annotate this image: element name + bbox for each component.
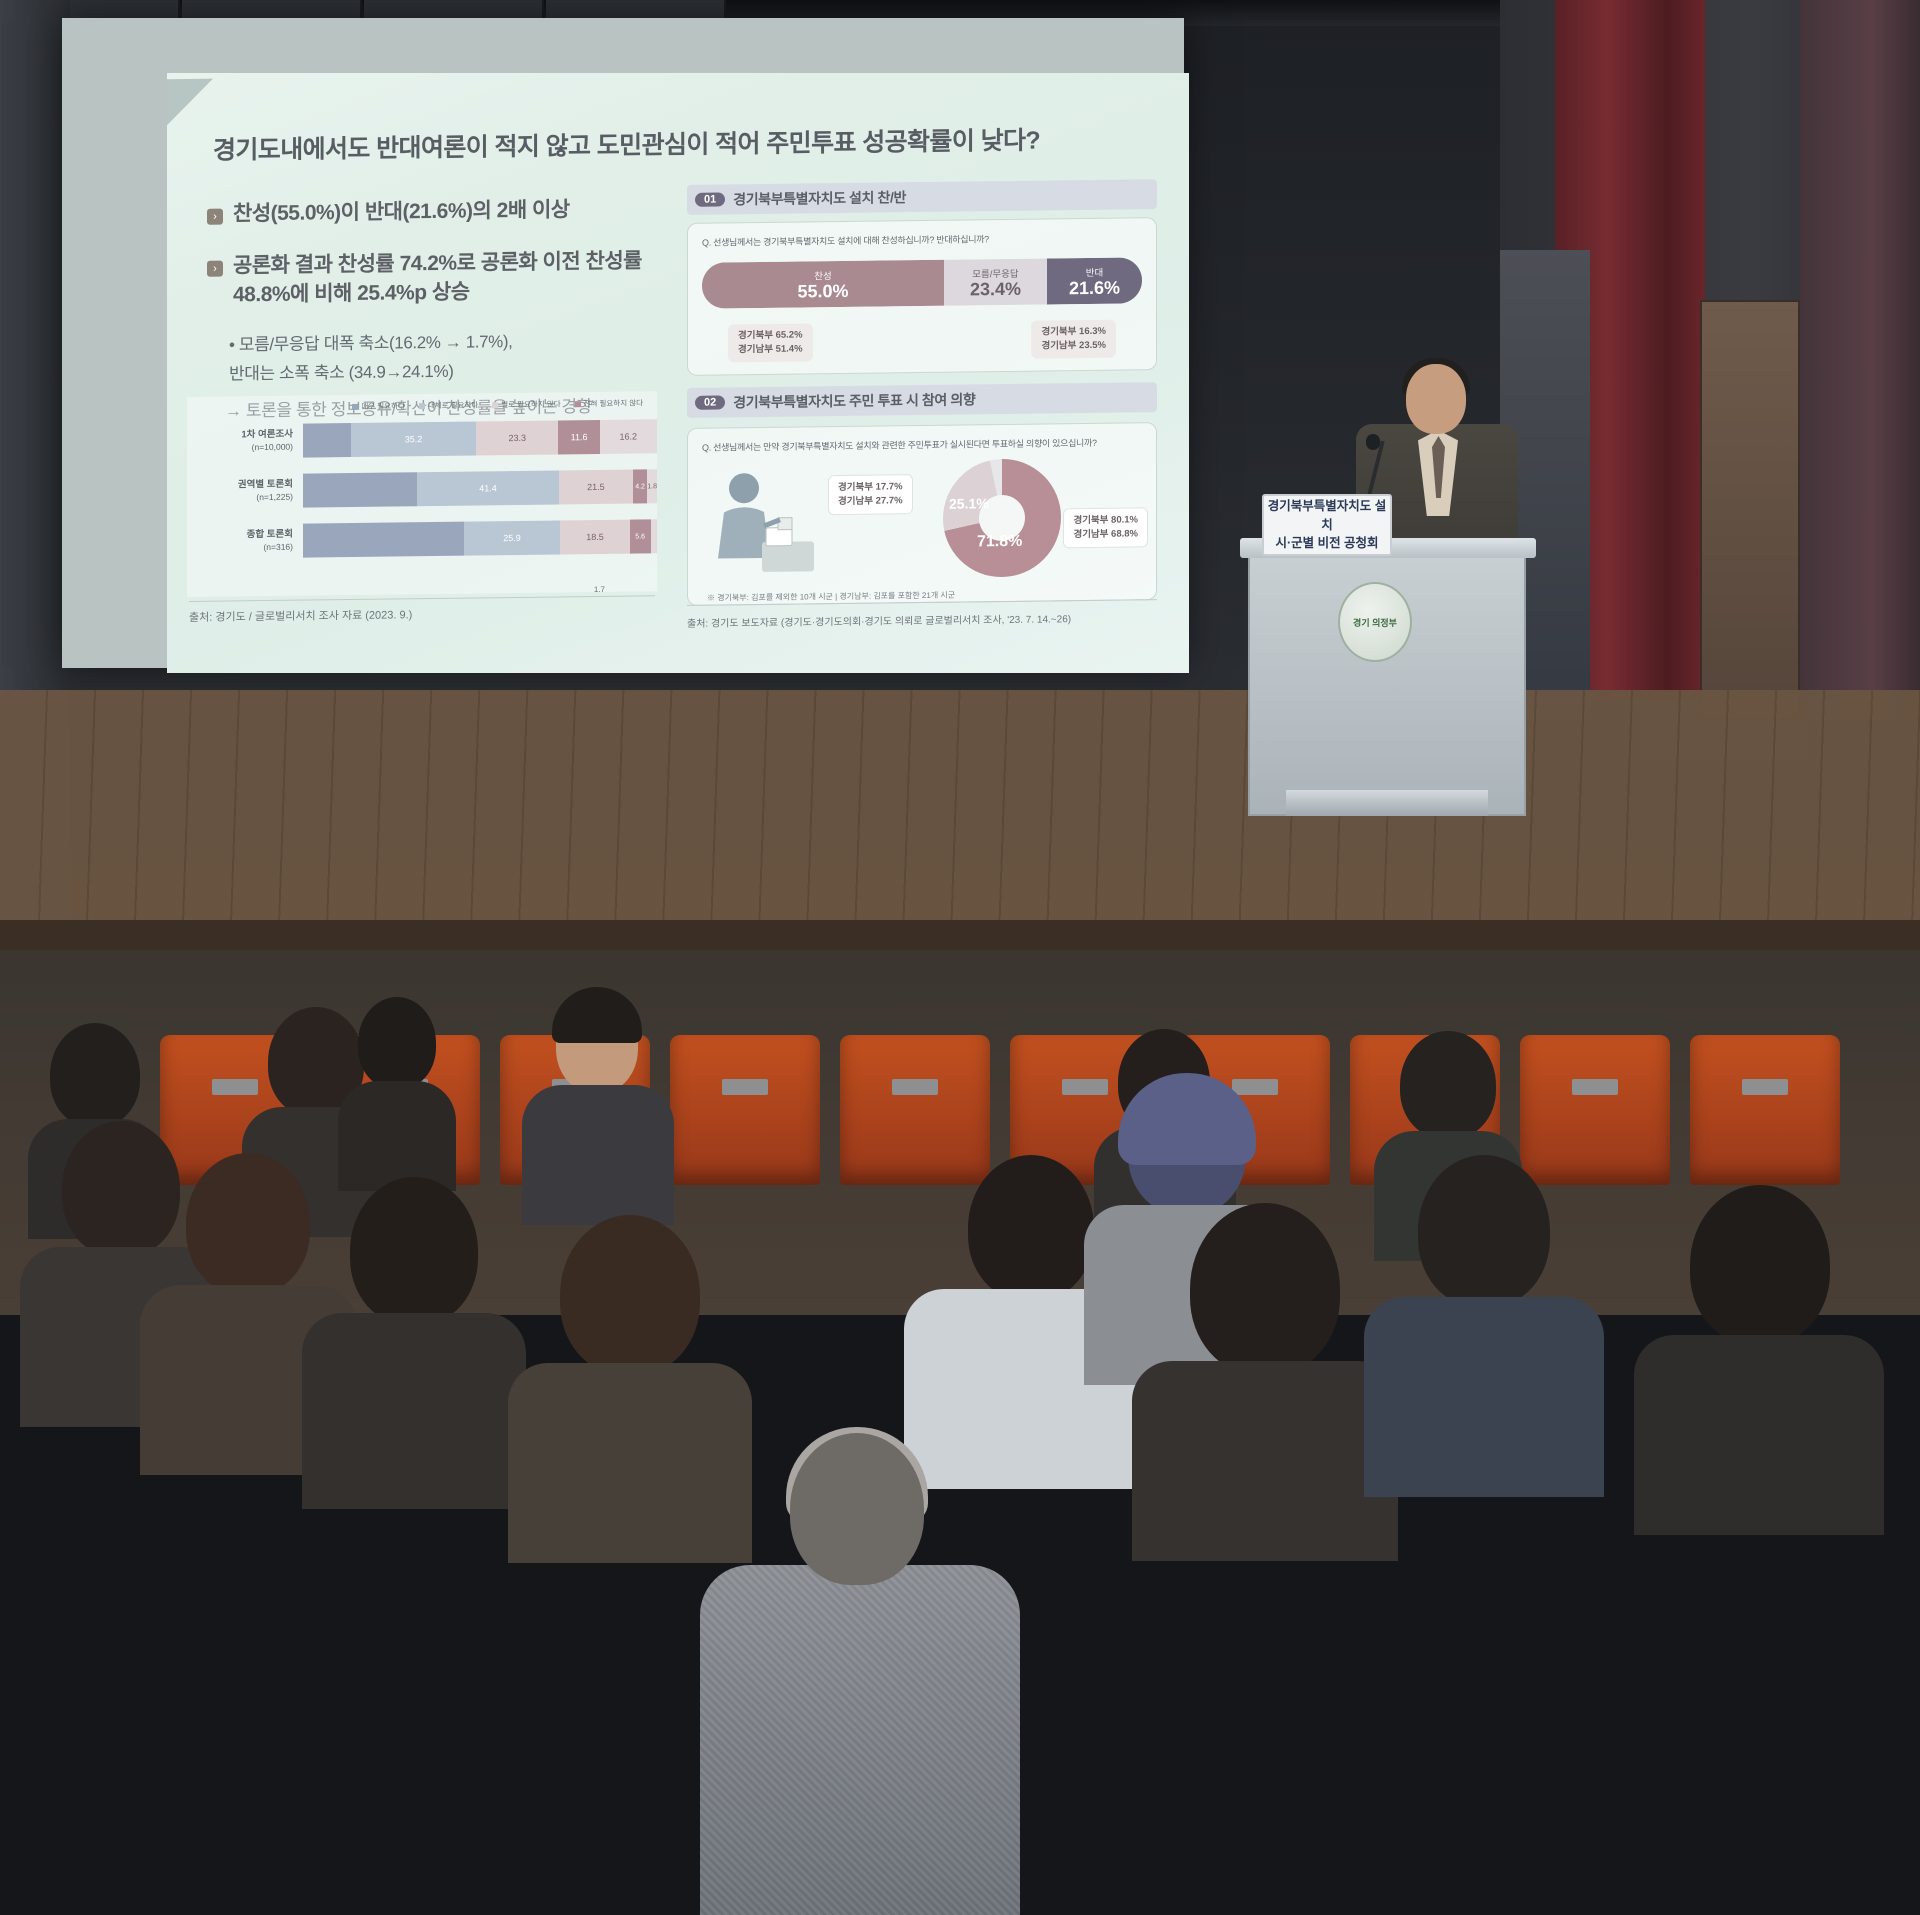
audience-area [0, 885, 1920, 1315]
chart-segment-extra: 1.8 [647, 469, 657, 503]
audience-member [62, 1121, 180, 1257]
audience-member-suited [556, 995, 638, 1093]
audience-head [560, 1215, 700, 1375]
callout-will-participate: 경기북부 80.1% 경기남부 68.8% [1063, 507, 1148, 549]
audience-head [1690, 1185, 1830, 1345]
donut-value-no: 25.1% [949, 495, 989, 511]
standing-member-head [790, 1433, 924, 1585]
standing-member-body [700, 1565, 1020, 1915]
vote-value: 21.6% [1069, 278, 1120, 298]
sub-bullet-text: • 모름/무응답 대폭 축소(16.2% → 1.7%), [229, 328, 677, 358]
section-panel-01: Q. 선생님께서는 경기북부특별자치도 설치에 대해 찬성하십니까? 반대하십니… [687, 217, 1157, 375]
vote-label: 반대 [1086, 264, 1103, 278]
chart-segment: 25.9 [464, 520, 561, 555]
bullet-item: › 공론화 결과 찬성률 74.2%로 공론화 이전 찬성률 48.8%에 비해… [207, 247, 677, 309]
audience-shoulders [338, 1081, 456, 1191]
beanie-hat-icon [1118, 1073, 1256, 1165]
legend-entry: 전혀 필요하지 않다 [575, 397, 643, 409]
slide-left-column: › 찬성(55.0%)이 반대(21.6%)의 2배 이상 › 공론화 결과 찬… [207, 195, 677, 422]
vote-segment-oppose: 반대 21.6% [1047, 257, 1142, 304]
vote-value: 55.0% [797, 281, 848, 301]
section-title: 경기북부특별자치도 주민 투표 시 참여 의향 [733, 389, 975, 412]
chart-segment: 23.3 [476, 420, 559, 455]
audience-member [1690, 1185, 1830, 1345]
seat-plate [1572, 1079, 1618, 1095]
chart-segment: 41.4 [417, 470, 559, 506]
audience-shoulders [302, 1313, 526, 1509]
section-header-02: 02 경기북부특별자치도 주민 투표 시 참여 의향 [687, 382, 1157, 418]
section-panel-02: Q. 선생님께서는 만약 경기북부특별자치도 설치와 관련한 주민투표가 실시된… [687, 422, 1157, 606]
chart-bar: 41.4 21.5 4.2 1.8 [303, 469, 657, 507]
seat-plate [212, 1079, 258, 1095]
chart-rows: 1차 여론조사 (n=10,000) 35.2 23.3 11.6 16.2 [187, 414, 657, 564]
audience-member [1400, 1031, 1496, 1139]
chart-segment [303, 423, 351, 458]
question-text: Q. 선생님께서는 만약 경기북부특별자치도 설치와 관련한 주민투표가 실시된… [702, 435, 1142, 453]
wall-left [0, 0, 70, 700]
podium-sign-line1: 경기북부특별자치도 설치 [1264, 497, 1390, 535]
vote-bar: 찬성 55.0% 모름/무응답 23.4% 반대 21.6% [702, 257, 1142, 308]
seat [670, 1035, 820, 1185]
legend-entry: 대체로 필요하다 [419, 399, 478, 411]
microphone-icon [1366, 434, 1380, 450]
sub-bullet-text: 반대는 소폭 축소 (34.9→24.1%) [229, 357, 677, 387]
question-text: Q. 선생님께서는 경기북부특별자치도 설치에 대해 찬성하십니까? 반대하십니… [702, 230, 1142, 248]
bullet-text: 찬성(55.0%)이 반대(21.6%)의 2배 이상 [233, 196, 570, 228]
region-box-oppose: 경기북부 16.3% 경기남부 23.5% [1031, 320, 1116, 359]
chart-segment: 5.6 [630, 519, 651, 553]
section-number: 02 [695, 395, 725, 409]
audience-member [1190, 1203, 1340, 1375]
audience-member [1418, 1155, 1550, 1307]
audience-head [50, 1023, 140, 1127]
podium-base [1286, 790, 1488, 816]
vote-segment-dontknow: 모름/무응답 23.4% [944, 258, 1047, 305]
chart-segment: 11.6 [558, 420, 599, 455]
audience-head [1190, 1203, 1340, 1375]
audience-head [350, 1177, 478, 1325]
region-breakdown-row: 경기북부 65.2% 경기남부 51.4% 경기북부 16.3% 경기남부 23… [702, 319, 1142, 362]
donut-value-yes: 71.8% [977, 532, 1022, 551]
auditorium-scene: 경기도내에서도 반대여론이 적지 않고 도민관심이 적어 주민투표 성공확률이 … [0, 0, 1920, 1315]
slide-corner-decor [167, 79, 213, 126]
vote-label: 찬성 [814, 268, 831, 282]
audience-member [560, 1215, 700, 1375]
seat-plate [892, 1079, 938, 1095]
chart-segment-extra: 16.2 [600, 419, 657, 454]
speaker-head [1406, 364, 1466, 434]
audience-hair [552, 987, 642, 1043]
audience-shoulders [508, 1363, 752, 1563]
chart-segment-extra [651, 519, 657, 553]
audience-head [186, 1153, 310, 1295]
section-header-01: 01 경기북부특별자치도 설치 찬/반 [687, 179, 1157, 215]
chart-segment: 4.2 [633, 469, 647, 503]
chart-row: 권역별 토론회 (n=1,225) 41.4 21.5 4.2 1.8 [187, 464, 657, 514]
chart-row-label: 1차 여론조사 (n=10,000) [187, 429, 303, 454]
chart-row: 종합 토론회 (n=316) 25.9 18.5 5.6 [187, 514, 657, 564]
chart-bar: 25.9 18.5 5.6 [303, 519, 657, 557]
chart-segment: 18.5 [560, 520, 629, 555]
seat-plate [1742, 1079, 1788, 1095]
legend-entry: 별로 필요하지 않다 [492, 398, 560, 410]
audience-member [350, 1177, 478, 1325]
bullet-marker-icon: › [207, 261, 223, 277]
vote-label: 모름/무응답 [972, 265, 1018, 280]
audience-member [50, 1023, 140, 1127]
jacket-texture [700, 1565, 1020, 1915]
audience-head [968, 1155, 1094, 1301]
city-emblem-icon: 경기 의정부 [1338, 582, 1412, 662]
source-note-left: 출처: 경기도 / 글로벌리서치 조사 자료 (2023. 9.) [189, 606, 412, 625]
bullet-item: › 찬성(55.0%)이 반대(21.6%)의 2배 이상 [207, 195, 677, 229]
section-title: 경기북부특별자치도 설치 찬/반 [733, 187, 906, 209]
legend-entry: 매우 필요하다 [352, 400, 404, 412]
audience-member [358, 997, 436, 1089]
audience-shoulders [522, 1085, 674, 1225]
chart-segment [303, 472, 417, 507]
seat-plate [1062, 1079, 1108, 1095]
audience-shoulders [1634, 1335, 1884, 1535]
podium-sign: 경기북부특별자치도 설치 시·군별 비전 공청회 [1262, 494, 1392, 556]
callout-no-participate: 경기북부 17.7% 경기남부 27.7% [828, 474, 913, 516]
bullet-text: 공론화 결과 찬성률 74.2%로 공론화 이전 찬성률 48.8%에 비해 2… [233, 247, 677, 309]
chart-row-label: 권역별 토론회 (n=1,225) [187, 479, 303, 504]
seat-plate [722, 1079, 768, 1095]
stacked-bar-chart: 매우 필요하다 대체로 필요하다 별로 필요하지 않다 전혀 필요하지 않다 1… [187, 391, 657, 597]
presentation-slide: 경기도내에서도 반대여론이 적지 않고 도민관심이 적어 주민투표 성공확률이 … [167, 73, 1189, 673]
vote-segment-agree: 찬성 55.0% [702, 260, 944, 309]
seat [1690, 1035, 1840, 1185]
audience-head [1400, 1031, 1496, 1139]
region-box-agree: 경기북부 65.2% 경기남부 51.4% [728, 323, 813, 362]
chart-row-label: 종합 토론회 (n=316) [187, 529, 303, 554]
bullet-marker-icon: › [207, 209, 223, 225]
audience-member [186, 1153, 310, 1295]
audience-shoulders [1132, 1361, 1398, 1561]
audience-shoulders [1364, 1297, 1604, 1497]
chart-bar: 35.2 23.3 11.6 16.2 [303, 419, 657, 457]
chart-row: 1차 여론조사 (n=10,000) 35.2 23.3 11.6 16.2 [187, 414, 657, 464]
stage-curtain-secondary [1800, 0, 1920, 720]
audience-member [968, 1155, 1094, 1301]
vote-value: 23.4% [970, 279, 1021, 299]
audience-member-hat [1128, 1083, 1246, 1215]
podium-sign-line2: 시·군별 비전 공청회 [1275, 534, 1378, 553]
source-note-right: 출처: 경기도 보도자료 (경기도·경기도의회·경기도 의뢰로 글로벌리서치 조… [687, 609, 1157, 630]
audience-head [358, 997, 436, 1089]
slide-title: 경기도내에서도 반대여론이 적지 않고 도민관심이 적어 주민투표 성공확률이 … [213, 119, 1173, 167]
projection-screen: 경기도내에서도 반대여론이 적지 않고 도민관심이 적어 주민투표 성공확률이 … [167, 73, 1189, 673]
slide-right-column: 01 경기북부특별자치도 설치 찬/반 Q. 선생님께서는 경기북부특별자치도 … [687, 179, 1157, 605]
voter-illustration [706, 465, 826, 584]
divider [189, 595, 655, 602]
chart-segment [303, 522, 464, 558]
projection-screen-frame: 경기도내에서도 반대여론이 적지 않고 도민관심이 적어 주민투표 성공확률이 … [62, 18, 1184, 668]
chart-bottom-note: 1.7 [594, 585, 605, 594]
side-door [1700, 300, 1800, 720]
chart-segment: 21.5 [559, 470, 633, 505]
section-number: 01 [695, 192, 725, 206]
audience-head [1418, 1155, 1550, 1307]
chart-segment: 35.2 [351, 421, 476, 457]
participation-donut-chart: 25.1% 71.8% [943, 458, 1061, 577]
audience-head [62, 1121, 180, 1257]
